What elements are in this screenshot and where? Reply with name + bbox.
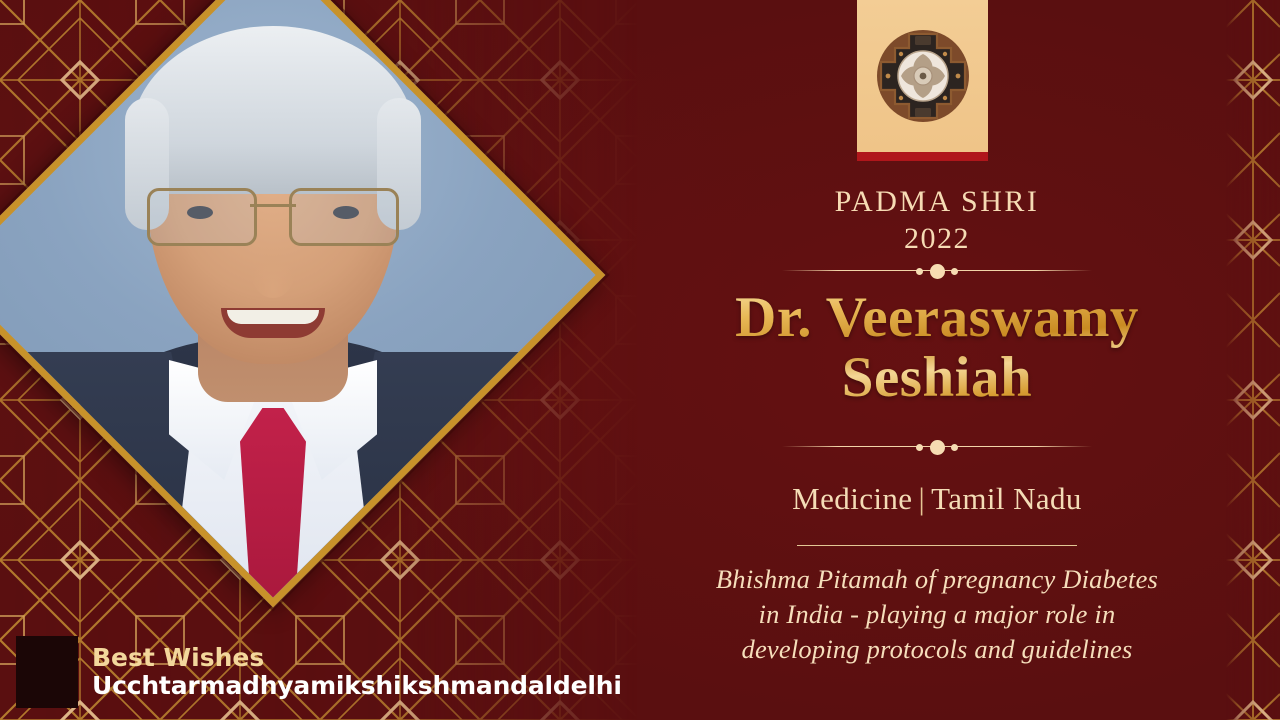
padma-shri-medal-icon	[871, 24, 975, 128]
organisation-logo-icon	[16, 636, 78, 708]
award-details-column: PADMA SHRI 2022 Dr. Veeraswamy Seshiah M…	[640, 0, 1234, 720]
award-field: Medicine	[792, 481, 912, 516]
citation-line-3: developing protocols and guidelines	[646, 632, 1228, 667]
field-and-state: Medicine|Tamil Nadu	[640, 481, 1234, 517]
citation-line-2: in India - playing a major role in	[646, 597, 1228, 632]
award-state: Tamil Nadu	[931, 481, 1082, 516]
honoree-name-line-2: Seshiah	[646, 348, 1228, 408]
right-pattern-decoration	[1226, 0, 1280, 720]
field-separator: |	[912, 481, 931, 516]
dot-rule-ornament-top	[782, 262, 1092, 280]
citation-divider	[797, 545, 1077, 546]
medal-ribbon-bar	[857, 152, 988, 161]
honoree-name-line-1: Dr. Veeraswamy	[646, 288, 1228, 348]
signoff-greeting: Best Wishes	[92, 644, 622, 672]
signoff-block: Best Wishes Ucchtarmadhyamikshikshmandal…	[16, 636, 622, 708]
dot-rule-ornament-bottom	[782, 438, 1092, 456]
medal-panel	[857, 0, 988, 152]
award-year: 2022	[640, 221, 1234, 258]
award-title-block: PADMA SHRI 2022	[640, 184, 1234, 257]
award-card: PADMA SHRI 2022 Dr. Veeraswamy Seshiah M…	[0, 0, 1280, 720]
award-name: PADMA SHRI	[835, 185, 1040, 218]
signoff-text: Best Wishes Ucchtarmadhyamikshikshmandal…	[92, 644, 622, 700]
citation-line-1: Bhishma Pitamah of pregnancy Diabetes	[646, 562, 1228, 597]
honoree-name: Dr. Veeraswamy Seshiah	[646, 288, 1228, 409]
signoff-organisation: Ucchtarmadhyamikshikshmandaldelhi	[92, 672, 622, 700]
citation-text: Bhishma Pitamah of pregnancy Diabetes in…	[646, 562, 1228, 668]
